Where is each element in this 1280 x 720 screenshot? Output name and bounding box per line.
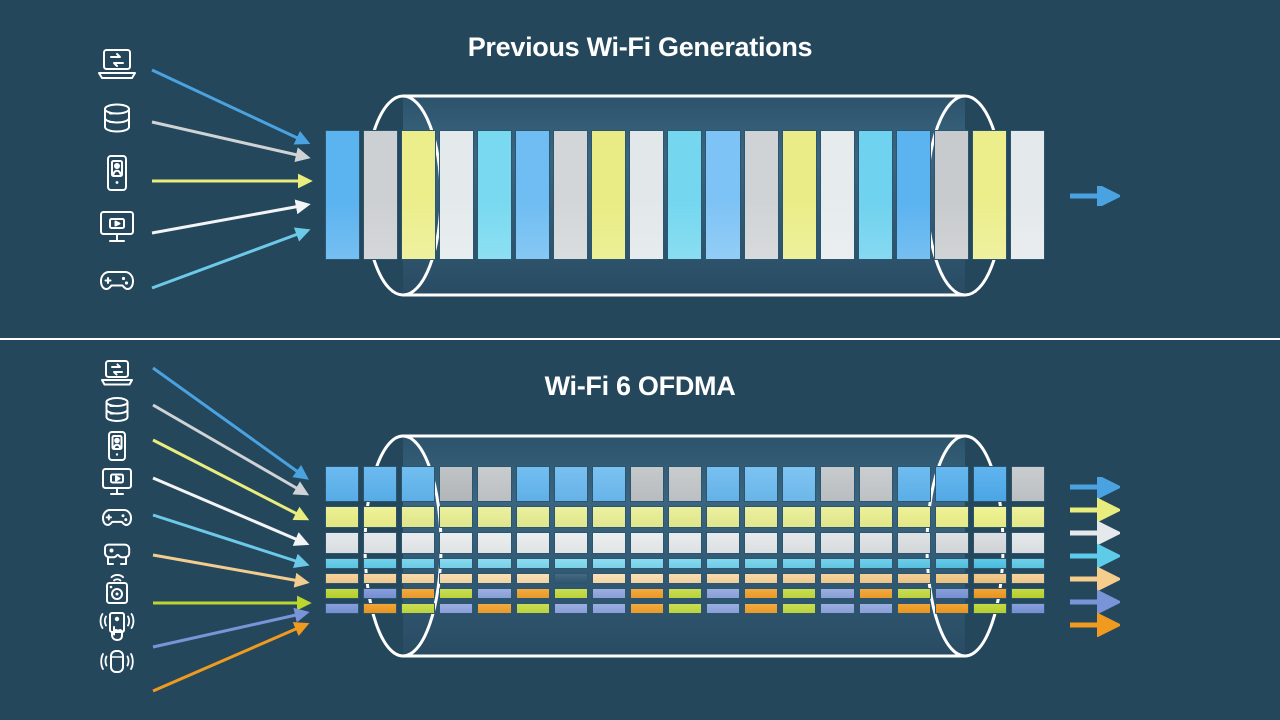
- resource-unit: [477, 506, 511, 528]
- resource-unit: [706, 603, 740, 614]
- resource-unit: [706, 588, 740, 599]
- resource-unit: [554, 532, 588, 554]
- channel-band: [515, 130, 550, 260]
- resource-unit: [516, 558, 550, 569]
- monitor-play-icon: [95, 463, 139, 501]
- resource-unit: [973, 588, 1007, 599]
- channel-band: [667, 130, 702, 260]
- resource-unit: [401, 532, 435, 554]
- resource-unit: [744, 466, 778, 502]
- resource-unit: [744, 532, 778, 554]
- database-icon: [95, 100, 139, 138]
- resource-unit: [401, 558, 435, 569]
- resource-unit: [363, 558, 397, 569]
- resource-unit: [363, 588, 397, 599]
- resource-unit: [935, 588, 969, 599]
- resource-unit: [668, 506, 702, 528]
- resource-unit: [325, 532, 359, 554]
- resource-unit: [325, 466, 359, 502]
- resource-unit: [477, 588, 511, 599]
- infographic-canvas: Previous Wi-Fi Generations: [0, 0, 1280, 720]
- resource-unit: [516, 506, 550, 528]
- resource-unit: [363, 466, 397, 502]
- channel-band: [363, 130, 398, 260]
- resource-unit: [935, 506, 969, 528]
- resource-unit: [592, 558, 626, 569]
- channel-band: [439, 130, 474, 260]
- channel-band: [401, 130, 436, 260]
- resource-unit: [439, 506, 473, 528]
- resource-unit: [363, 603, 397, 614]
- device-list-top: [95, 46, 139, 300]
- resource-unit: [401, 506, 435, 528]
- resource-unit: [516, 573, 550, 584]
- resource-unit: [630, 588, 664, 599]
- resource-unit: [325, 506, 359, 528]
- channel-band: [553, 130, 588, 260]
- channel-band: [325, 130, 360, 260]
- resource-unit: [592, 506, 626, 528]
- resource-unit: [439, 466, 473, 502]
- resource-unit: [668, 466, 702, 502]
- resource-unit: [859, 588, 893, 599]
- resource-unit: [820, 588, 854, 599]
- resource-unit: [516, 588, 550, 599]
- resource-unit: [782, 466, 816, 502]
- device-list-bottom: [95, 355, 139, 681]
- channel-band: [705, 130, 740, 260]
- resource-unit: [554, 573, 588, 584]
- resource-unit: [706, 573, 740, 584]
- smart-tablet-touch-icon: [95, 607, 139, 645]
- resource-unit: [820, 573, 854, 584]
- resource-unit: [897, 573, 931, 584]
- vr-headset-icon: [95, 535, 139, 573]
- row-yellow: [325, 506, 1045, 528]
- resource-unit: [363, 573, 397, 584]
- channel-band: [477, 130, 512, 260]
- smartphone-user-icon: [95, 427, 139, 465]
- resource-unit: [1011, 603, 1045, 614]
- resource-unit: [744, 603, 778, 614]
- row-mixed-2: [325, 603, 1045, 614]
- channel-band: [1010, 130, 1045, 260]
- laptop-transfer-icon: [95, 355, 139, 393]
- resource-unit: [554, 558, 588, 569]
- channel-band: [744, 130, 779, 260]
- resource-unit: [1011, 573, 1045, 584]
- resource-unit: [935, 466, 969, 502]
- resource-unit: [668, 558, 702, 569]
- resource-unit: [820, 532, 854, 554]
- resource-unit: [744, 558, 778, 569]
- resource-unit: [859, 506, 893, 528]
- resource-unit: [668, 588, 702, 599]
- resource-unit: [325, 558, 359, 569]
- resource-unit: [782, 573, 816, 584]
- panel-wifi6-ofdma: Wi-Fi 6 OFDMA: [0, 341, 1280, 720]
- resource-unit: [592, 466, 626, 502]
- resource-unit: [1011, 466, 1045, 502]
- ofdma-resource-grid: [325, 466, 1045, 630]
- resource-unit: [516, 466, 550, 502]
- resource-unit: [477, 603, 511, 614]
- resource-unit: [325, 588, 359, 599]
- resource-unit: [782, 603, 816, 614]
- resource-unit: [1011, 506, 1045, 528]
- resource-unit: [668, 573, 702, 584]
- resource-unit: [630, 558, 664, 569]
- resource-unit: [897, 558, 931, 569]
- resource-unit: [897, 532, 931, 554]
- resource-unit: [935, 532, 969, 554]
- wifi-channel-pipe-bottom: [325, 428, 1045, 664]
- resource-unit: [935, 558, 969, 569]
- resource-unit: [782, 588, 816, 599]
- resource-unit: [1011, 532, 1045, 554]
- gamepad-icon: [95, 499, 139, 537]
- smartphone-user-icon: [95, 154, 139, 192]
- resource-unit: [554, 603, 588, 614]
- resource-unit: [973, 506, 1007, 528]
- row-mixed-1: [325, 588, 1045, 599]
- channel-band: [782, 130, 817, 260]
- resource-unit: [973, 558, 1007, 569]
- resource-unit: [668, 532, 702, 554]
- channel-band: [858, 130, 893, 260]
- resource-unit: [782, 558, 816, 569]
- resource-unit: [401, 573, 435, 584]
- resource-unit: [325, 603, 359, 614]
- resource-unit: [363, 506, 397, 528]
- outbound-arrows-bottom: [1068, 477, 1120, 637]
- resource-unit: [897, 603, 931, 614]
- resource-unit: [973, 603, 1007, 614]
- resource-unit: [706, 558, 740, 569]
- channel-band: [972, 130, 1007, 260]
- resource-unit: [897, 466, 931, 502]
- row-white: [325, 532, 1045, 554]
- channel-band: [591, 130, 626, 260]
- resource-unit: [439, 558, 473, 569]
- resource-unit: [744, 506, 778, 528]
- channel-band: [896, 130, 931, 260]
- resource-unit: [859, 603, 893, 614]
- resource-unit: [325, 573, 359, 584]
- database-icon: [95, 391, 139, 429]
- resource-unit: [668, 603, 702, 614]
- resource-unit: [630, 466, 664, 502]
- resource-unit: [516, 532, 550, 554]
- resource-unit: [592, 532, 626, 554]
- row-blue-wide: [325, 466, 1045, 502]
- resource-unit: [973, 532, 1007, 554]
- resource-unit: [630, 603, 664, 614]
- row-peach: [325, 573, 1045, 584]
- resource-unit: [859, 573, 893, 584]
- resource-unit: [973, 573, 1007, 584]
- outbound-arrows-top: [1068, 186, 1120, 206]
- resource-unit: [630, 532, 664, 554]
- resource-unit: [592, 588, 626, 599]
- resource-unit: [477, 558, 511, 569]
- resource-unit: [859, 532, 893, 554]
- resource-unit: [477, 532, 511, 554]
- channel-band: [629, 130, 664, 260]
- resource-unit: [820, 558, 854, 569]
- panel-divider: [0, 338, 1280, 340]
- resource-unit: [401, 603, 435, 614]
- resource-unit: [477, 466, 511, 502]
- resource-unit: [516, 603, 550, 614]
- resource-unit: [935, 573, 969, 584]
- resource-unit: [592, 573, 626, 584]
- resource-unit: [859, 466, 893, 502]
- resource-unit: [592, 603, 626, 614]
- resource-unit: [706, 466, 740, 502]
- resource-unit: [401, 588, 435, 599]
- resource-unit: [706, 506, 740, 528]
- resource-unit: [554, 466, 588, 502]
- resource-unit: [897, 506, 931, 528]
- resource-unit: [782, 532, 816, 554]
- resource-unit: [744, 588, 778, 599]
- resource-unit: [554, 506, 588, 528]
- resource-unit: [897, 588, 931, 599]
- resource-unit: [973, 466, 1007, 502]
- resource-unit: [439, 588, 473, 599]
- resource-unit: [439, 532, 473, 554]
- monitor-play-icon: [95, 208, 139, 246]
- resource-unit: [820, 506, 854, 528]
- resource-unit: [554, 588, 588, 599]
- resource-unit: [820, 603, 854, 614]
- resource-unit: [820, 466, 854, 502]
- resource-unit: [439, 603, 473, 614]
- resource-unit: [744, 573, 778, 584]
- resource-unit: [859, 558, 893, 569]
- resource-unit: [630, 506, 664, 528]
- panel-previous-wifi: Previous Wi-Fi Generations: [0, 0, 1280, 339]
- resource-unit: [477, 573, 511, 584]
- laptop-transfer-icon: [95, 46, 139, 84]
- channel-band-strip-top: [325, 130, 1045, 260]
- smart-camera-icon: [95, 571, 139, 609]
- page-title-previous-wifi: Previous Wi-Fi Generations: [0, 32, 1280, 63]
- resource-unit: [706, 532, 740, 554]
- resource-unit: [630, 573, 664, 584]
- resource-unit: [401, 466, 435, 502]
- resource-unit: [935, 603, 969, 614]
- channel-band: [934, 130, 969, 260]
- resource-unit: [782, 506, 816, 528]
- resource-unit: [363, 532, 397, 554]
- gamepad-icon: [95, 262, 139, 300]
- smart-speaker-icon: [95, 643, 139, 681]
- wifi-channel-pipe-top: [325, 88, 1045, 303]
- resource-unit: [1011, 558, 1045, 569]
- row-cyan: [325, 558, 1045, 569]
- resource-unit: [439, 573, 473, 584]
- page-title-wifi6-ofdma: Wi-Fi 6 OFDMA: [0, 371, 1280, 402]
- channel-band: [820, 130, 855, 260]
- resource-unit: [1011, 588, 1045, 599]
